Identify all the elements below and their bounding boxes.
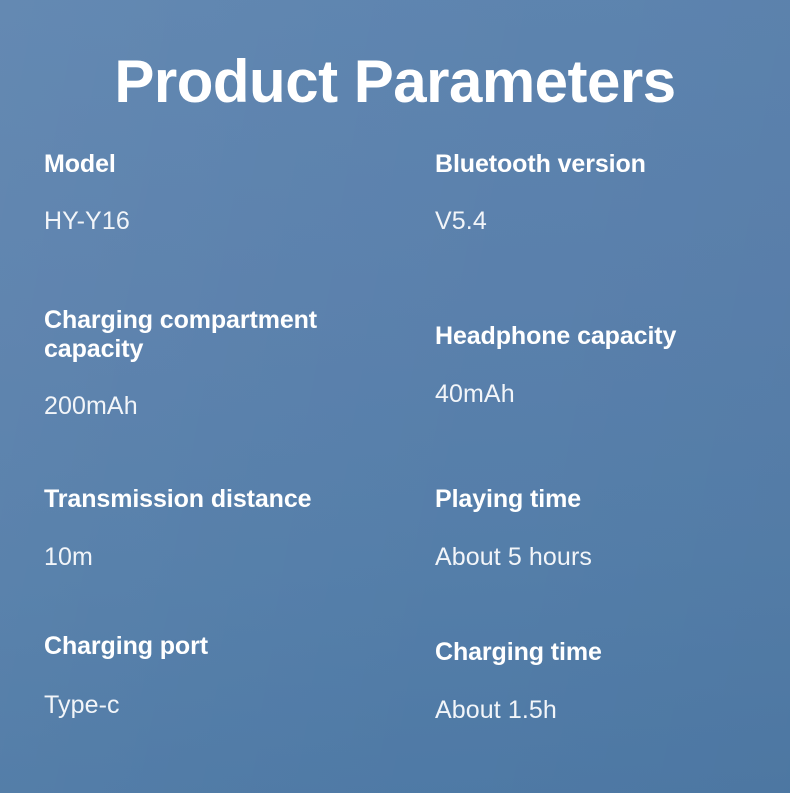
spec-item-playing-time: Playing time About 5 hours (435, 485, 780, 572)
spec-label: Playing time (435, 485, 780, 514)
spec-label: Bluetooth version (435, 150, 780, 179)
spec-value: 200mAh (44, 392, 434, 421)
spec-row: Model HY-Y16 Bluetooth version V5.4 (0, 150, 790, 300)
spec-label: Charging time (435, 638, 780, 667)
spec-item-charging-port: Charging port Type-c (44, 632, 434, 720)
spec-label: Transmission distance (44, 485, 434, 514)
spec-item-headphone-capacity: Headphone capacity 40mAh (435, 322, 780, 409)
spec-row: Charging compartment capacity 200mAh Hea… (0, 300, 790, 485)
spec-item-model: Model HY-Y16 (44, 150, 434, 236)
spec-row: Charging port Type-c Charging time About… (0, 632, 790, 772)
spec-label: Charging compartment capacity (44, 306, 389, 364)
spec-value: 10m (44, 543, 434, 572)
spec-label: Model (44, 150, 434, 179)
spec-value: About 5 hours (435, 543, 780, 572)
spec-value: About 1.5h (435, 696, 780, 725)
spec-label: Headphone capacity (435, 322, 780, 351)
spec-value: Type-c (44, 691, 434, 720)
product-parameters-panel: Product Parameters Model HY-Y16 Bluetoot… (0, 0, 790, 793)
spec-grid: Model HY-Y16 Bluetooth version V5.4 Char… (0, 150, 790, 772)
page-title: Product Parameters (0, 52, 790, 112)
spec-value: V5.4 (435, 207, 780, 236)
spec-item-charging-compartment-capacity: Charging compartment capacity 200mAh (44, 306, 434, 421)
spec-item-transmission-distance: Transmission distance 10m (44, 485, 434, 572)
spec-item-charging-time: Charging time About 1.5h (435, 638, 780, 725)
spec-row: Transmission distance 10m Playing time A… (0, 485, 790, 632)
spec-label: Charging port (44, 632, 434, 661)
spec-value: 40mAh (435, 380, 780, 409)
spec-value: HY-Y16 (44, 207, 434, 236)
spec-item-bluetooth-version: Bluetooth version V5.4 (435, 150, 780, 236)
